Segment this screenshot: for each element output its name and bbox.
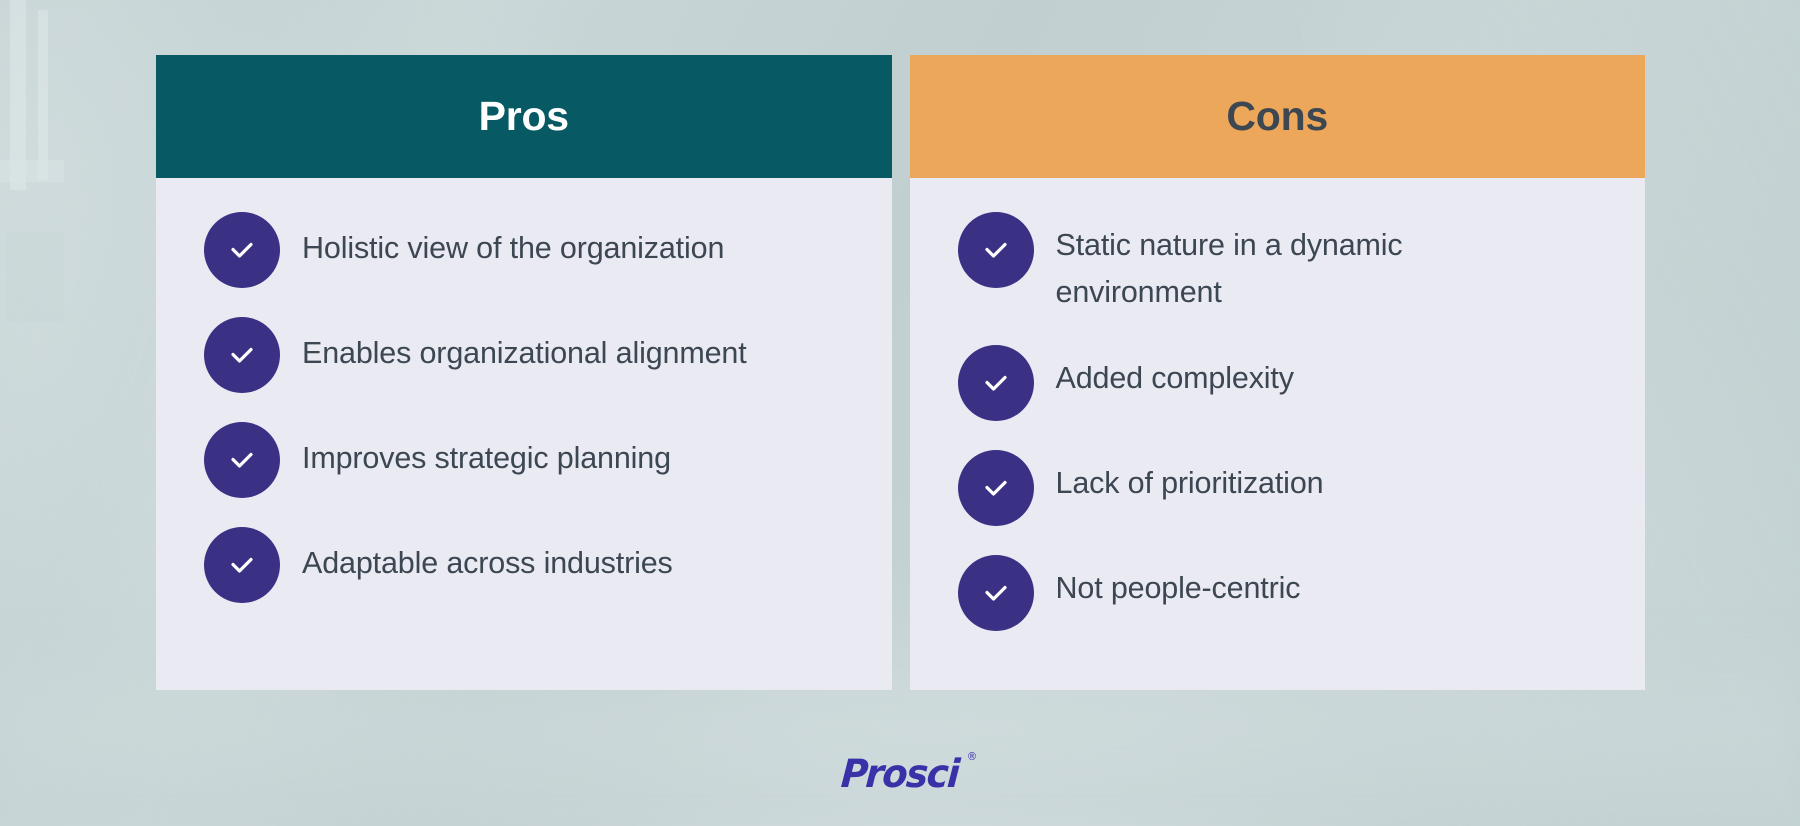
list-item: Added complexity	[958, 345, 1606, 421]
check-icon	[958, 555, 1034, 631]
check-icon	[204, 212, 280, 288]
cons-list: Static nature in a dynamic environment A…	[910, 178, 1646, 690]
list-item: Not people-centric	[958, 555, 1606, 631]
check-icon	[204, 317, 280, 393]
list-item-label: Static nature in a dynamic environment	[1056, 212, 1526, 316]
list-item: Enables organizational alignment	[204, 317, 852, 393]
cons-card: Cons Static nature in a dynamic environm…	[910, 55, 1646, 690]
cons-card-title: Cons	[1226, 93, 1328, 140]
pros-card-header: Pros	[156, 55, 892, 178]
list-item: Static nature in a dynamic environment	[958, 212, 1606, 316]
list-item-label: Enables organizational alignment	[302, 317, 747, 376]
pros-card: Pros Holistic view of the organization E…	[156, 55, 892, 690]
list-item: Lack of prioritization	[958, 450, 1606, 526]
list-item: Adaptable across industries	[204, 527, 852, 603]
list-item-label: Lack of prioritization	[1056, 450, 1324, 507]
list-item-label: Added complexity	[1056, 345, 1294, 402]
pros-list: Holistic view of the organization Enable…	[156, 178, 892, 690]
list-item-label: Adaptable across industries	[302, 527, 673, 586]
check-icon	[958, 212, 1034, 288]
cons-card-header: Cons	[910, 55, 1646, 178]
list-item: Holistic view of the organization	[204, 212, 852, 288]
background-shelf-detail	[6, 232, 64, 322]
list-item-label: Improves strategic planning	[302, 422, 671, 481]
list-item-label: Not people-centric	[1056, 555, 1301, 612]
prosci-logo: Prosci ®	[0, 752, 1800, 797]
list-item: Improves strategic planning	[204, 422, 852, 498]
check-icon	[204, 527, 280, 603]
check-icon	[958, 450, 1034, 526]
prosci-wordmark: Prosci ®	[840, 752, 960, 797]
background-shelf-detail	[38, 10, 48, 180]
pros-cons-comparison: Pros Holistic view of the organization E…	[156, 55, 1645, 690]
check-icon	[204, 422, 280, 498]
background-shelf-detail	[0, 160, 64, 182]
prosci-wordmark-text: Prosci	[840, 752, 960, 797]
check-icon	[958, 345, 1034, 421]
pros-card-title: Pros	[479, 93, 569, 140]
list-item-label: Holistic view of the organization	[302, 212, 724, 271]
registered-trademark-icon: ®	[967, 750, 976, 763]
